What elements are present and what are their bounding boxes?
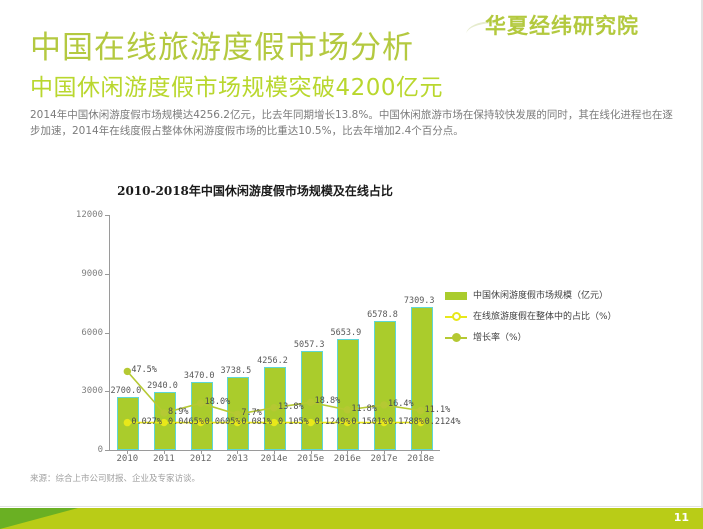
footer-bar: 11 (0, 508, 703, 529)
page-title: 中国在线旅游度假市场分析 (30, 22, 414, 67)
x-tick-label: 2012 (190, 454, 212, 464)
legend-item[interactable]: 中国休闲游度假市场规模（亿元） (445, 290, 635, 302)
chart-title: 2010-2018年中国休闲游度假市场规模及在线占比 (25, 182, 485, 199)
x-tick-cell: 2012 (182, 215, 219, 450)
x-tick-cell: 2018e (402, 215, 439, 450)
legend-item[interactable]: 增长率（%） (445, 332, 635, 344)
legend-label: 增长率（%） (473, 332, 623, 344)
x-tick-cell: 2010 (109, 215, 146, 450)
x-tick-label: 2010 (116, 454, 138, 464)
y-tick-label: 12000 (76, 210, 103, 220)
footer-triangle-accent (0, 508, 78, 529)
x-tick-cell: 2017e (366, 215, 403, 450)
slide: 华夏经纬研究院 中国在线旅游度假市场分析 中国休闲游度假市场规模突破4200亿元… (0, 0, 703, 529)
page-number: 11 (674, 511, 689, 524)
y-tick-mark (105, 450, 109, 451)
y-tick-label: 0 (98, 445, 103, 455)
x-tick-cell: 2014e (256, 215, 293, 450)
y-tick-label: 6000 (81, 328, 103, 338)
x-tick-label: 2011 (153, 454, 175, 464)
x-tick-label: 2015e (297, 454, 324, 464)
legend-label: 中国休闲游度假市场规模（亿元） (473, 290, 623, 302)
x-tick-label: 2016e (334, 454, 361, 464)
legend-marker-dot-icon (452, 312, 461, 321)
source-note: 来源：综合上市公司财报、企业及专家访谈。 (30, 472, 200, 484)
x-tick-cell: 2015e (292, 215, 329, 450)
legend-label: 在线旅游度假在整体中的占比（%） (473, 311, 623, 323)
chart-legend: 中国休闲游度假市场规模（亿元）在线旅游度假在整体中的占比（%）增长率（%） (445, 290, 635, 353)
legend-bar-swatch-icon (445, 292, 467, 300)
x-tick-cell: 2016e (329, 215, 366, 450)
plot-area: 030006000900012000 2700.02940.03470.0373… (109, 215, 439, 450)
chart-container: 2010-2018年中国休闲游度假市场规模及在线占比 0300060009000… (25, 160, 680, 460)
page-subtitle: 中国休闲游度假市场规模突破4200亿元 (30, 68, 443, 102)
y-tick-label: 3000 (81, 386, 103, 396)
x-tick-cell: 2013 (219, 215, 256, 450)
content-divider (0, 506, 703, 507)
x-tick-label: 2014e (260, 454, 287, 464)
x-tick-label: 2017e (370, 454, 397, 464)
body-paragraph: 2014年中国休闲游度假市场规模达4256.2亿元，比去年同期增长13.8%。中… (30, 107, 682, 139)
brand-logo-text: 华夏经纬研究院 (485, 10, 639, 40)
x-tick-label: 2013 (226, 454, 248, 464)
legend-item[interactable]: 在线旅游度假在整体中的占比（%） (445, 311, 635, 323)
x-tick-cell: 2011 (146, 215, 183, 450)
x-tick-label: 2018e (407, 454, 434, 464)
y-tick-label: 9000 (81, 269, 103, 279)
legend-marker-dot-icon (452, 333, 461, 342)
